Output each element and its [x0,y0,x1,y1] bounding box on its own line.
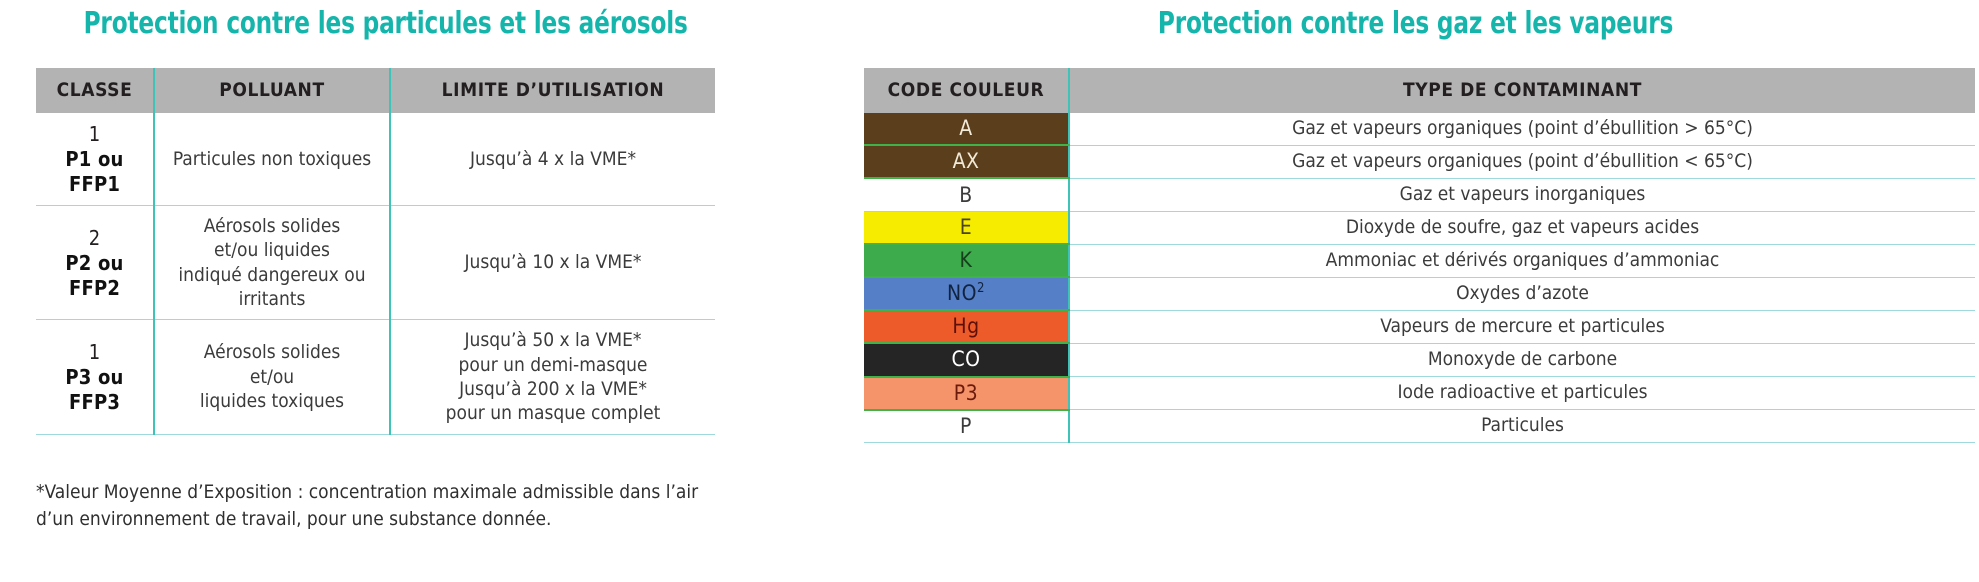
limite-line: Jusqu’à 4 x la VME* [397,147,709,171]
cell-type-contaminant: Gaz et vapeurs organiques (point d’ébull… [1069,113,1975,145]
classe-code: P3 ou FFP3 [42,365,147,415]
cell-type-contaminant: Oxydes d’azote [1069,277,1975,310]
column-header-limite: LIMITE D’UTILISATION [390,68,715,113]
cell-type-contaminant: Iode radioactive et particules [1069,377,1975,410]
column-header-polluant: POLLUANT [154,68,390,113]
gases-table-body: AGaz et vapeurs organiques (point d’ébul… [864,113,1975,443]
colour-code-label: NO [947,281,977,305]
table-row: KAmmoniac et dérivés organiques d’ammoni… [864,244,1975,277]
classe-code: P1 ou FFP1 [42,147,147,197]
cell-type-contaminant: Dioxyde de soufre, gaz et vapeurs acides [1069,211,1975,244]
colour-code-label: A [959,116,972,140]
cell-classe: 2 P2 ou FFP2 [36,206,154,320]
colour-code-label: AX [953,149,980,173]
infographic-page: Protection contre les particules et les … [0,0,1979,582]
limite-line: pour un demi-masque [397,353,709,377]
cell-type-contaminant: Gaz et vapeurs organiques (point d’ébull… [1069,145,1975,178]
colour-code-label: K [960,248,973,272]
cell-polluant: Aérosols solides et/ou liquides toxiques [154,320,390,434]
cell-code-couleur: AX [864,145,1069,178]
table-header-row: CLASSE POLLUANT LIMITE D’UTILISATION [36,68,715,113]
limite-line: Jusqu’à 50 x la VME* [397,328,709,352]
particles-table-body: 1 P1 ou FFP1 Particules non toxiques Jus… [36,113,715,434]
table-row: P3Iode radioactive et particules [864,377,1975,410]
cell-type-contaminant: Particules [1069,410,1975,443]
polluant-line: et/ou liquides [161,238,383,262]
classe-code: P2 ou FFP2 [42,251,147,301]
colour-code-label: E [960,215,972,239]
cell-code-couleur: NO2 [864,277,1069,310]
limite-line: Jusqu’à 10 x la VME* [397,250,709,274]
polluant-line: et/ou [161,365,383,389]
colour-code-label: B [959,183,972,207]
gases-panel-title: Protection contre les gaz et les vapeurs [938,9,1893,39]
particles-panel-title: Protection contre les particules et les … [84,9,669,39]
column-header-classe: CLASSE [36,68,154,113]
colour-code-label: P3 [954,381,978,405]
cell-code-couleur: B [864,178,1069,211]
gases-table: CODE COULEUR TYPE DE CONTAMINANT AGaz et… [864,68,1975,443]
table-row: BGaz et vapeurs inorganiques [864,178,1975,211]
table-row: NO2Oxydes d’azote [864,277,1975,310]
cell-limite: Jusqu’à 50 x la VME* pour un demi-masque… [390,320,715,434]
cell-code-couleur: K [864,244,1069,277]
polluant-line: Particules non toxiques [161,147,383,171]
vme-footnote: *Valeur Moyenne d’Exposition : concentra… [36,479,726,532]
classe-number: 1 [42,121,147,147]
cell-type-contaminant: Gaz et vapeurs inorganiques [1069,178,1975,211]
cell-classe: 1 P1 ou FFP1 [36,113,154,206]
cell-code-couleur: E [864,211,1069,244]
column-header-code-couleur: CODE COULEUR [864,68,1069,113]
classe-number: 1 [42,339,147,365]
colour-code-label: P [960,414,972,438]
polluant-line: indiqué dangereux ou irritants [161,263,383,312]
table-row: AXGaz et vapeurs organiques (point d’ébu… [864,145,1975,178]
cell-code-couleur: P3 [864,377,1069,410]
colour-code-label: Hg [952,314,979,338]
table-row: EDioxyde de soufre, gaz et vapeurs acide… [864,211,1975,244]
table-row: 1 P1 ou FFP1 Particules non toxiques Jus… [36,113,715,206]
classe-number: 2 [42,225,147,251]
cell-code-couleur: Hg [864,310,1069,343]
table-row: COMonoxyde de carbone [864,343,1975,376]
polluant-line: Aérosols solides [161,214,383,238]
table-header-row: CODE COULEUR TYPE DE CONTAMINANT [864,68,1975,113]
cell-type-contaminant: Monoxyde de carbone [1069,343,1975,376]
colour-code-superscript: 2 [977,281,985,296]
particles-table: CLASSE POLLUANT LIMITE D’UTILISATION 1 P… [36,68,715,435]
cell-classe: 1 P3 ou FFP3 [36,320,154,434]
gases-table-head: CODE COULEUR TYPE DE CONTAMINANT [864,68,1975,113]
colour-code-label: CO [951,347,980,371]
table-row: 1 P3 ou FFP3 Aérosols solides et/ou liqu… [36,320,715,434]
particles-table-head: CLASSE POLLUANT LIMITE D’UTILISATION [36,68,715,113]
cell-type-contaminant: Ammoniac et dérivés organiques d’ammonia… [1069,244,1975,277]
table-row: 2 P2 ou FFP2 Aérosols solides et/ou liqu… [36,206,715,320]
cell-polluant: Particules non toxiques [154,113,390,206]
limite-line: Jusqu’à 200 x la VME* [397,377,709,401]
table-row: HgVapeurs de mercure et particules [864,310,1975,343]
cell-code-couleur: CO [864,343,1069,376]
cell-type-contaminant: Vapeurs de mercure et particules [1069,310,1975,343]
column-header-type-contaminant: TYPE DE CONTAMINANT [1069,68,1975,113]
cell-code-couleur: A [864,113,1069,145]
table-row: AGaz et vapeurs organiques (point d’ébul… [864,113,1975,145]
cell-code-couleur: P [864,410,1069,443]
cell-limite: Jusqu’à 4 x la VME* [390,113,715,206]
cell-limite: Jusqu’à 10 x la VME* [390,206,715,320]
cell-polluant: Aérosols solides et/ou liquides indiqué … [154,206,390,320]
polluant-line: Aérosols solides [161,340,383,364]
polluant-line: liquides toxiques [161,389,383,413]
limite-line: pour un masque complet [397,401,709,425]
table-row: PParticules [864,410,1975,443]
